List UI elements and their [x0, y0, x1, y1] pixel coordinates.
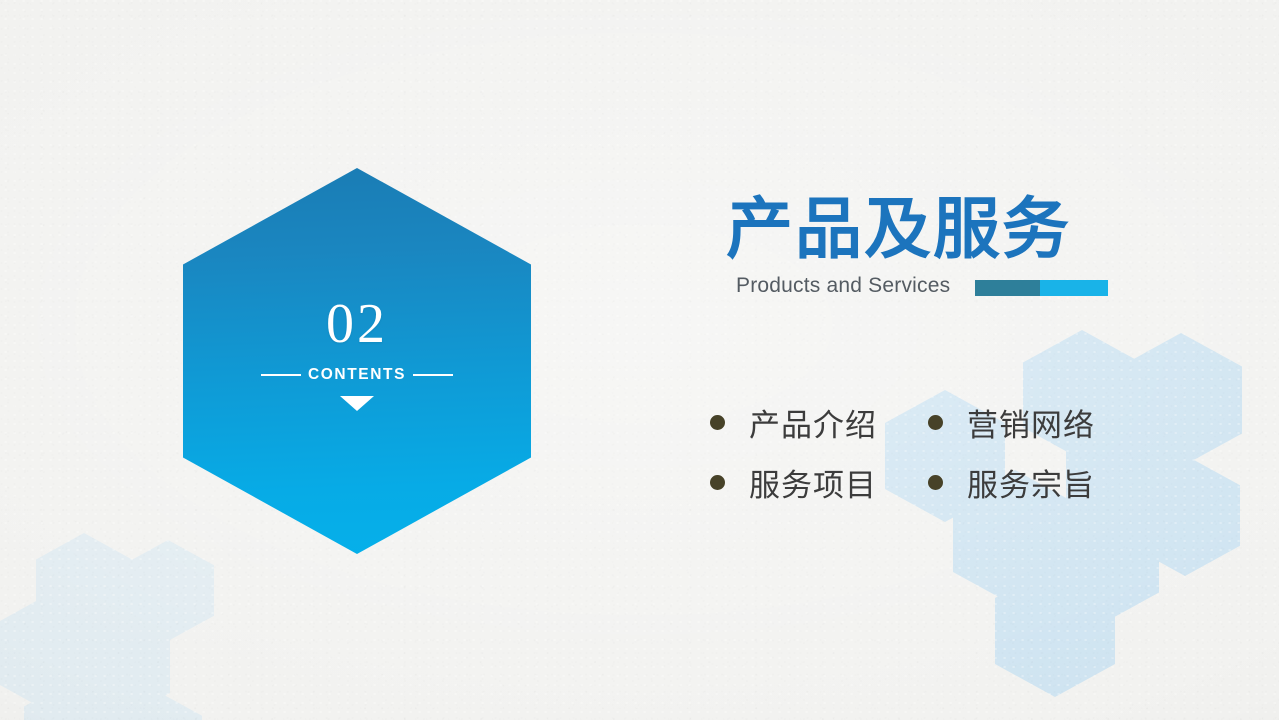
list-item-label: 产品介绍	[749, 400, 877, 445]
list-item[interactable]: 产品介绍	[710, 400, 928, 445]
accent-bar-segment-dark	[975, 280, 1040, 296]
accent-bar	[975, 280, 1108, 296]
list-item[interactable]: 营销网络	[928, 400, 1128, 445]
agenda-list: 产品介绍 营销网络 服务项目 服务宗旨	[710, 392, 1130, 512]
page-subtitle: Products and Services	[736, 274, 950, 298]
list-item[interactable]: 服务项目	[710, 460, 928, 505]
triangle-down-icon	[340, 396, 374, 411]
heading-block: 产品及服务 Products and Services	[726, 196, 1156, 300]
contents-caption: CONTENTS	[308, 366, 406, 384]
contents-hexagon[interactable]: 02 CONTENTS	[183, 168, 531, 554]
bullet-dot-icon	[928, 475, 943, 490]
divider-line-right	[413, 374, 453, 376]
list-item-label: 营销网络	[967, 400, 1095, 445]
subtitle-row: Products and Services	[726, 274, 1156, 300]
list-item[interactable]: 服务宗旨	[928, 460, 1128, 505]
divider-line-left	[261, 374, 301, 376]
list-item-label: 服务宗旨	[967, 460, 1095, 505]
slide-canvas: 02 CONTENTS 产品及服务 Products and Services …	[0, 0, 1279, 720]
list-item-label: 服务项目	[749, 460, 877, 505]
section-number: 02	[183, 296, 531, 352]
contents-hexagon-inner: 02 CONTENTS	[183, 296, 531, 411]
contents-caption-row: CONTENTS	[183, 366, 531, 384]
page-title: 产品及服务	[726, 196, 1156, 264]
bullet-dot-icon	[710, 475, 725, 490]
bullet-dot-icon	[928, 415, 943, 430]
accent-bar-segment-light	[1040, 280, 1108, 296]
bullet-dot-icon	[710, 415, 725, 430]
